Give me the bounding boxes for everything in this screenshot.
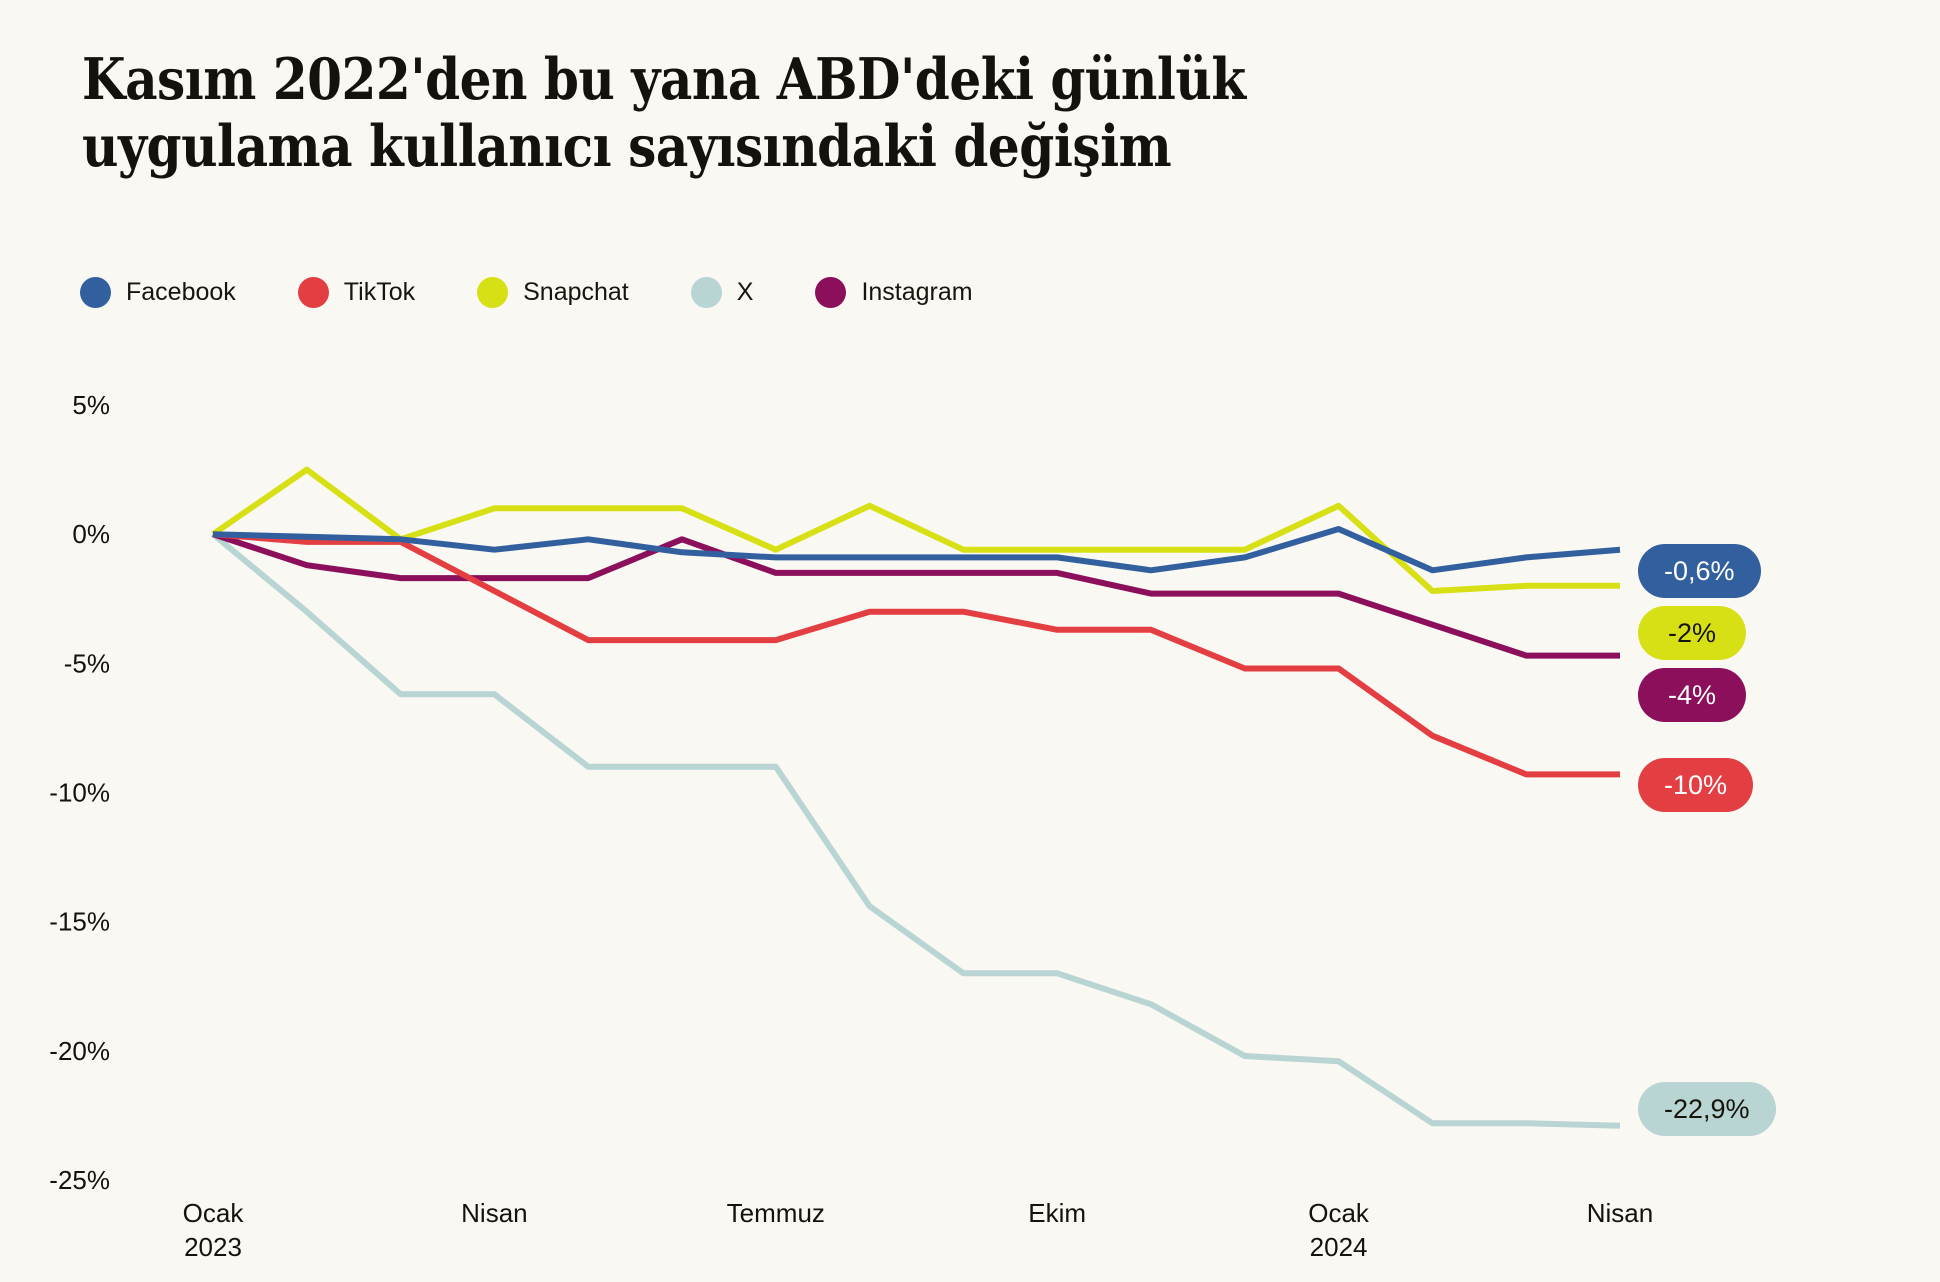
legend-item-label: Snapchat xyxy=(523,278,629,307)
chart-page: Kasım 2022'den bu yana ABD'deki günlük u… xyxy=(0,0,1940,1282)
legend-swatch-icon xyxy=(691,277,722,308)
x-axis-tick-label: Temmuz xyxy=(727,1198,825,1228)
legend-item-x[interactable]: X xyxy=(691,277,754,308)
title-block: Kasım 2022'den bu yana ABD'deki günlük u… xyxy=(82,46,1622,181)
chart-legend: FacebookTikTokSnapchatXInstagram xyxy=(80,277,1035,308)
series-line-tiktok xyxy=(213,534,1620,774)
legend-swatch-icon xyxy=(298,277,329,308)
x-axis-tick-label: Ekim xyxy=(1028,1198,1086,1228)
x-axis-tick-label: Ocak xyxy=(183,1198,245,1228)
end-value-badge-x: -22,9% xyxy=(1638,1082,1776,1136)
x-axis-tick-sublabel: 2023 xyxy=(184,1232,242,1262)
y-axis-tick-label: -15% xyxy=(49,907,110,937)
y-axis-tick-label: -10% xyxy=(49,778,110,808)
legend-item-snapchat[interactable]: Snapchat xyxy=(477,277,629,308)
y-axis-tick-label: -5% xyxy=(64,648,110,678)
legend-item-facebook[interactable]: Facebook xyxy=(80,277,236,308)
legend-item-label: Facebook xyxy=(126,278,236,307)
series-line-instagram xyxy=(213,534,1620,655)
end-value-badge-tiktok: -10% xyxy=(1638,758,1753,812)
series-line-x xyxy=(213,534,1620,1126)
x-axis-tick-label: Nisan xyxy=(461,1198,527,1228)
y-axis-tick-label: 5% xyxy=(72,390,110,420)
y-axis-tick-label: -25% xyxy=(49,1165,110,1195)
end-value-badge-snapchat: -2% xyxy=(1638,606,1746,660)
legend-item-label: TikTok xyxy=(344,278,415,307)
x-axis-tick-label: Ocak xyxy=(1308,1198,1370,1228)
x-axis-tick-sublabel: 2024 xyxy=(1310,1232,1368,1262)
legend-item-label: Instagram xyxy=(861,278,972,307)
end-value-badge-instagram: -4% xyxy=(1638,668,1746,722)
legend-item-label: X xyxy=(737,278,754,307)
series-line-facebook xyxy=(213,529,1620,570)
y-axis-tick-label: 0% xyxy=(72,519,110,549)
legend-swatch-icon xyxy=(815,277,846,308)
y-axis-tick-label: -20% xyxy=(49,1036,110,1066)
end-value-badge-facebook: -0,6% xyxy=(1638,544,1761,598)
series-line-snapchat xyxy=(213,470,1620,591)
legend-item-tiktok[interactable]: TikTok xyxy=(298,277,415,308)
page-title: Kasım 2022'den bu yana ABD'deki günlük u… xyxy=(82,46,1437,181)
legend-item-instagram[interactable]: Instagram xyxy=(815,277,972,308)
legend-swatch-icon xyxy=(80,277,111,308)
x-axis-tick-label: Nisan xyxy=(1587,1198,1653,1228)
legend-swatch-icon xyxy=(477,277,508,308)
